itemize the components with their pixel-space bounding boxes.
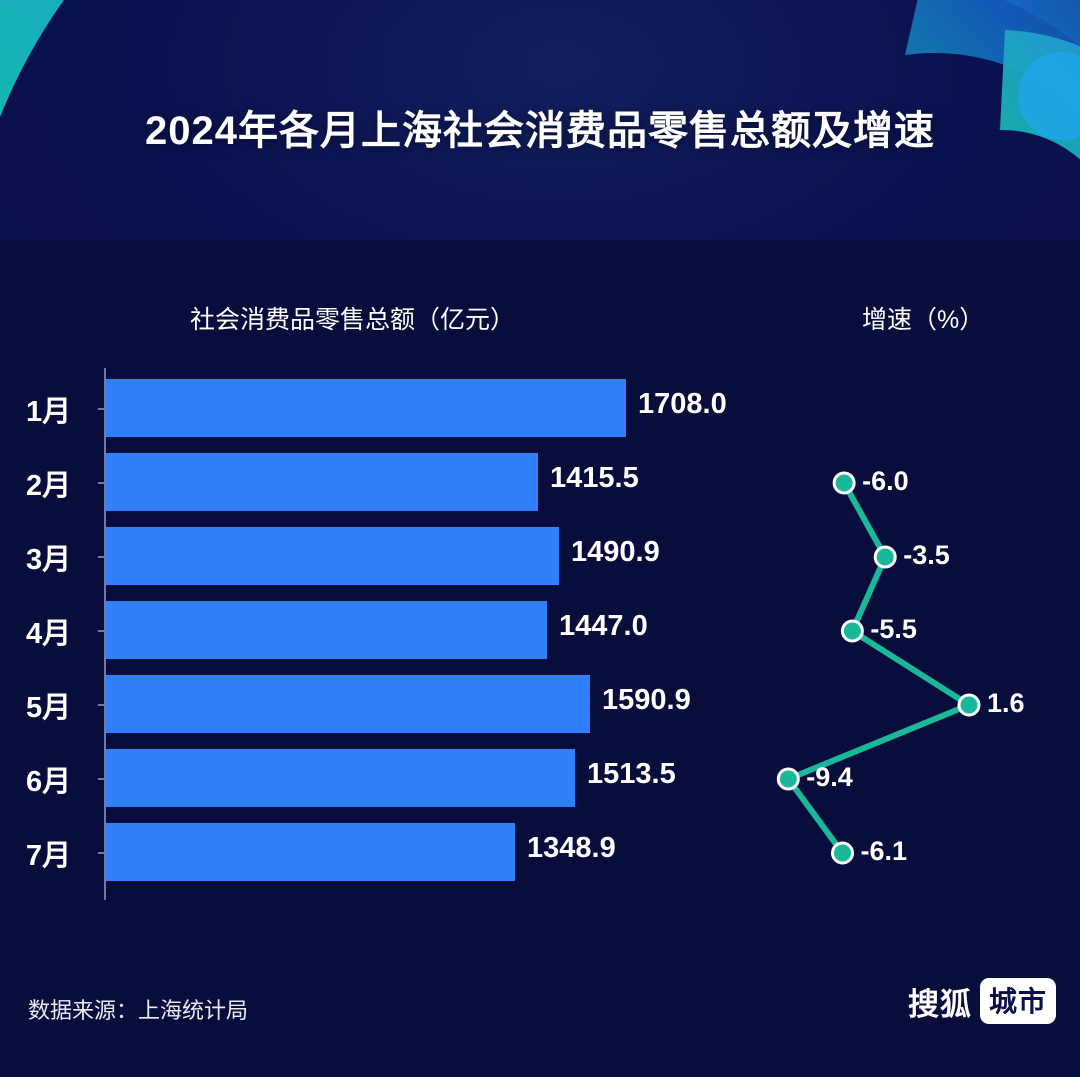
line-value-label: -6.1 (861, 836, 908, 867)
data-source: 数据来源：上海统计局 (28, 993, 248, 1025)
line-value-label: 1.6 (987, 688, 1025, 719)
line-marker (833, 843, 853, 863)
line-marker (834, 473, 854, 493)
line-value-label: -6.0 (862, 466, 909, 497)
page-title: 2024年各月上海社会消费品零售总额及增速 (0, 98, 1080, 156)
logo-brand: 搜狐 (908, 979, 972, 1024)
right-column-header: 增速（%） (862, 300, 984, 336)
line-value-label: -9.4 (806, 762, 853, 793)
line-path (788, 483, 969, 853)
infographic-poster: 2024年各月上海社会消费品零售总额及增速 社会消费品零售总额（亿元） 增速（%… (0, 0, 1080, 1077)
logo-tag: 城市 (980, 978, 1056, 1024)
line-marker (842, 621, 862, 641)
line-marker (959, 695, 979, 715)
left-column-header: 社会消费品零售总额（亿元） (190, 300, 515, 336)
chart-area: 1月1708.02月1415.53月1490.94月1447.05月1590.9… (0, 368, 1080, 908)
line-marker (778, 769, 798, 789)
logo: 搜狐 城市 (908, 978, 1056, 1024)
line-marker (875, 547, 895, 567)
growth-rate-line (0, 368, 1080, 908)
line-value-label: -5.5 (870, 614, 917, 645)
line-value-label: -3.5 (903, 540, 950, 571)
